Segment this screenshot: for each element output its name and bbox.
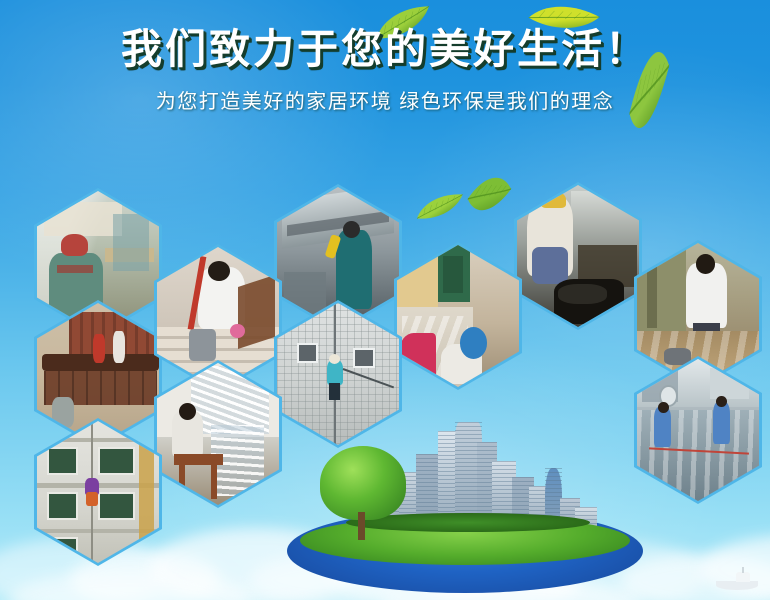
hex-tile-wall-rappel[interactable]	[274, 300, 402, 448]
hex-tile-carpet-care[interactable]	[394, 242, 522, 390]
hex-photo	[517, 185, 639, 327]
banner-title: 我们致力于您的美好生活！	[0, 28, 770, 71]
hex-photo	[37, 421, 159, 563]
hex-photo	[637, 359, 759, 501]
hex-tile-facade-rappel[interactable]	[34, 418, 162, 566]
hex-tile-roof-cleaning[interactable]	[634, 356, 762, 504]
banner-canvas: 我们致力于您的美好生活！ 为您打造美好的家居环境 绿色环保是我们的理念	[0, 0, 770, 600]
hex-tile-kitchen-degrease[interactable]	[514, 182, 642, 330]
hex-photo	[277, 303, 399, 445]
hex-photo	[157, 363, 279, 505]
hex-photo	[397, 245, 519, 387]
hex-tile-ceiling-crystal[interactable]	[154, 360, 282, 508]
banner-heading-block: 我们致力于您的美好生活！ 为您打造美好的家居环境 绿色环保是我们的理念	[0, 28, 770, 114]
banner-subtitle: 为您打造美好的家居环境 绿色环保是我们的理念	[0, 85, 770, 114]
